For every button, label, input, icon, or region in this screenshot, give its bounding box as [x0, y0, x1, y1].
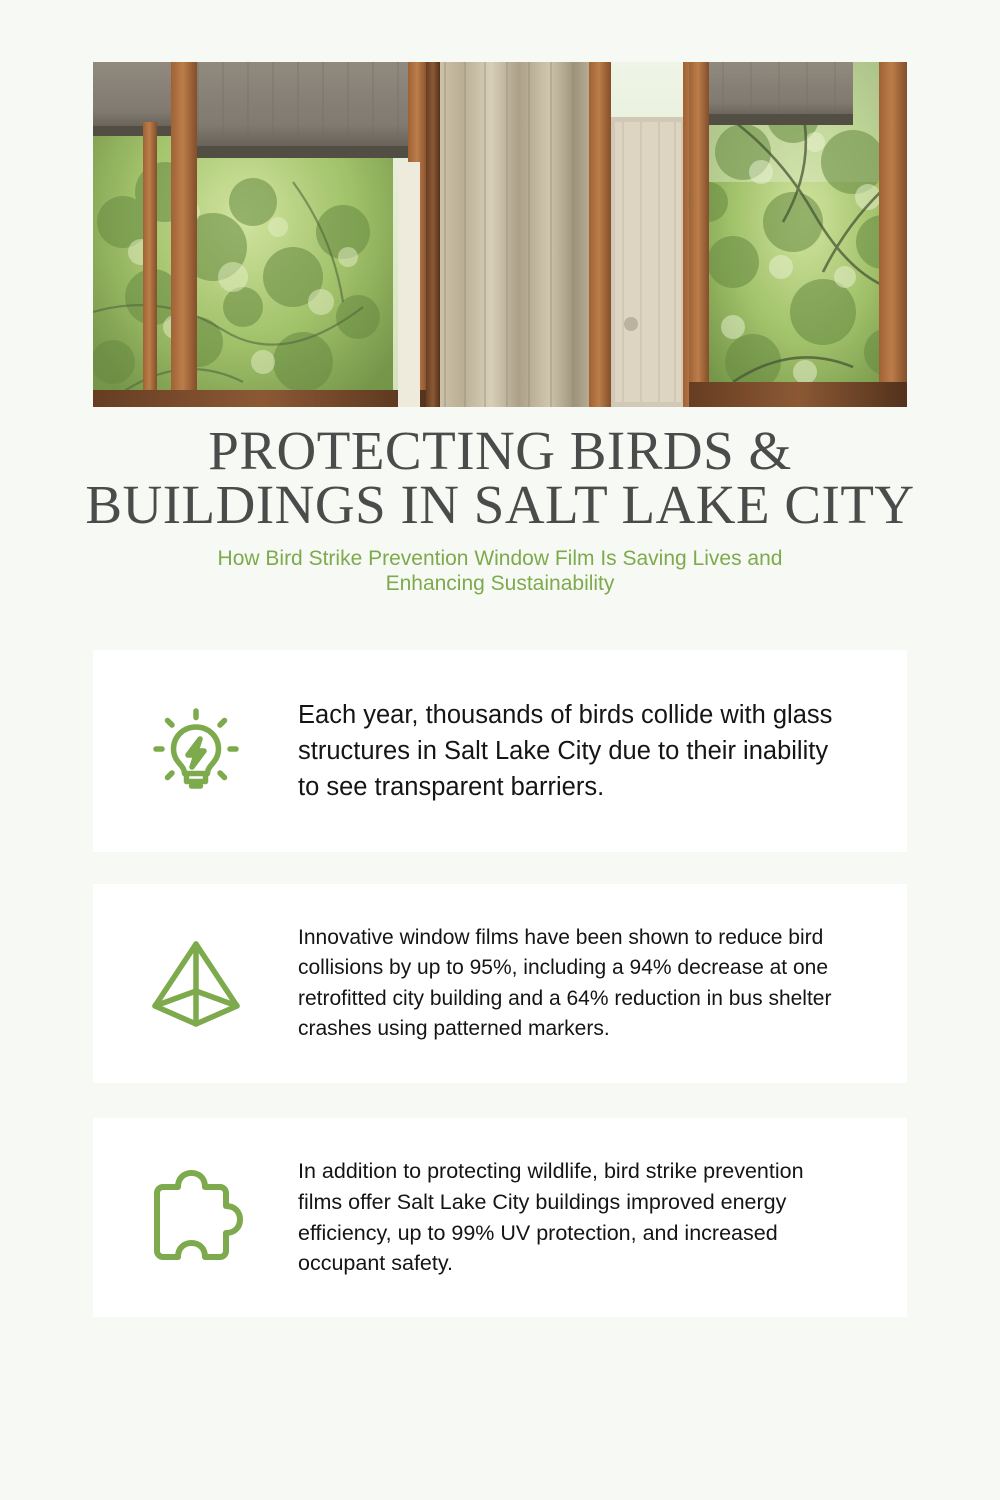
info-card-1: Each year, thousands of birds collide wi… [93, 650, 907, 852]
puzzle-piece-icon [93, 1169, 298, 1267]
hero-photo [93, 62, 907, 407]
title-block: PROTECTING BIRDS & BUILDINGS IN SALT LAK… [50, 424, 950, 597]
card-1-text: Each year, thousands of birds collide wi… [298, 697, 907, 806]
info-card-2: Innovative window films have been shown … [93, 884, 907, 1083]
page-subtitle: How Bird Strike Prevention Window Film I… [50, 546, 950, 597]
lightbulb-bolt-icon [93, 703, 298, 799]
infographic-page: PROTECTING BIRDS & BUILDINGS IN SALT LAK… [0, 0, 1000, 1500]
card-3-text: In addition to protecting wildlife, bird… [298, 1156, 907, 1280]
pyramid-wireframe-icon [93, 935, 298, 1033]
card-2-text: Innovative window films have been shown … [298, 923, 907, 1044]
window-interior-photo [93, 62, 907, 407]
info-card-3: In addition to protecting wildlife, bird… [93, 1118, 907, 1317]
page-title: PROTECTING BIRDS & BUILDINGS IN SALT LAK… [50, 424, 950, 532]
